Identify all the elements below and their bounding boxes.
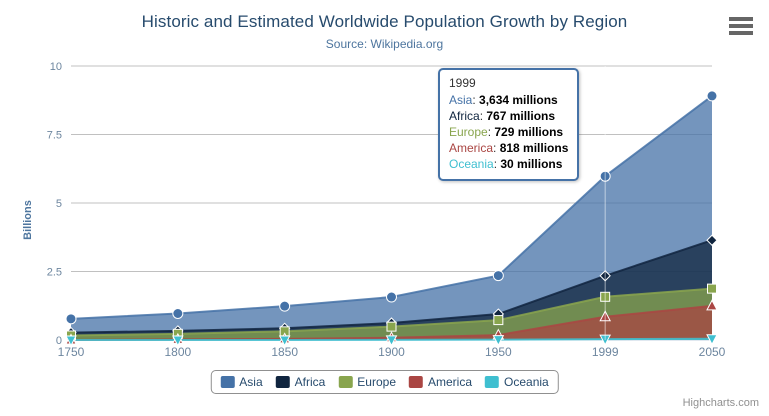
data-point-asia[interactable] [493, 271, 503, 281]
tooltip-series-name: America [449, 141, 493, 155]
data-point-asia[interactable] [173, 309, 183, 319]
highcharts-container: Historic and Estimated Worldwide Populat… [0, 0, 769, 416]
tooltip-row: Asia: 3,634 millions [449, 92, 568, 108]
x-axis-tick-label: 1900 [378, 345, 405, 359]
data-point-europe[interactable] [387, 322, 396, 331]
tooltip-separator: : [472, 93, 479, 107]
tooltip-series-value: 3,634 millions [479, 93, 558, 107]
tooltip-series-name: Africa [449, 109, 480, 123]
x-axis-tick-label: 1750 [58, 345, 85, 359]
plot-area: 02.557.510Billions1750180018501900195019… [0, 0, 769, 416]
legend-swatch-icon [338, 376, 352, 388]
legend-item-africa[interactable]: Africa [276, 375, 326, 389]
data-point-asia[interactable] [280, 301, 290, 311]
x-axis-tick-label: 1950 [485, 345, 512, 359]
legend-item-europe[interactable]: Europe [338, 375, 396, 389]
legend-swatch-icon [220, 376, 234, 388]
credits-label: Highcharts.com [683, 397, 759, 409]
y-axis-tick-label: 7.5 [47, 130, 62, 142]
y-axis-tick-label: 5 [56, 198, 62, 210]
tooltip-row: Europe: 729 millions [449, 124, 568, 140]
tooltip-separator: : [493, 141, 500, 155]
legend-label: Oceania [504, 375, 549, 389]
legend-swatch-icon [409, 376, 423, 388]
tooltip-row: America: 818 millions [449, 140, 568, 156]
x-axis-tick-label: 1999 [592, 345, 619, 359]
tooltip-series-value: 729 millions [494, 125, 563, 139]
x-axis-tick-label: 1850 [271, 345, 298, 359]
tooltip-rows: Asia: 3,634 millionsAfrica: 767 millions… [449, 92, 568, 172]
tooltip-series-name: Oceania [449, 157, 494, 171]
tooltip-row: Oceania: 30 millions [449, 156, 568, 172]
legend-label: Asia [239, 375, 262, 389]
tooltip-series-value: 767 millions [486, 109, 555, 123]
legend-swatch-icon [485, 376, 499, 388]
data-point-asia[interactable] [66, 314, 76, 324]
legend-label: Europe [357, 375, 396, 389]
x-axis-tick-label: 2050 [699, 345, 726, 359]
tooltip-series-value: 30 millions [500, 157, 562, 171]
tooltip-series-value: 818 millions [500, 141, 569, 155]
data-point-asia[interactable] [387, 292, 397, 302]
legend-label: America [428, 375, 472, 389]
y-axis-tick-label: 10 [50, 61, 62, 73]
tooltip-series-name: Asia [449, 93, 472, 107]
legend-swatch-icon [276, 376, 290, 388]
y-axis-tick-label: 2.5 [47, 267, 62, 279]
legend-item-oceania[interactable]: Oceania [485, 375, 549, 389]
y-axis-title: Billions [22, 200, 34, 240]
tooltip-series-name: Europe [449, 125, 488, 139]
chart-legend: AsiaAfricaEuropeAmericaOceania [210, 370, 558, 394]
x-axis-tick-label: 1800 [164, 345, 191, 359]
legend-label: Africa [295, 375, 326, 389]
legend-item-asia[interactable]: Asia [220, 375, 262, 389]
data-point-europe[interactable] [494, 316, 503, 325]
data-point-europe[interactable] [708, 284, 717, 293]
data-point-asia[interactable] [707, 91, 717, 101]
chart-tooltip: 1999 Asia: 3,634 millionsAfrica: 767 mil… [438, 68, 579, 181]
tooltip-header: 1999 [449, 76, 568, 90]
legend-item-america[interactable]: America [409, 375, 472, 389]
tooltip-row: Africa: 767 millions [449, 108, 568, 124]
